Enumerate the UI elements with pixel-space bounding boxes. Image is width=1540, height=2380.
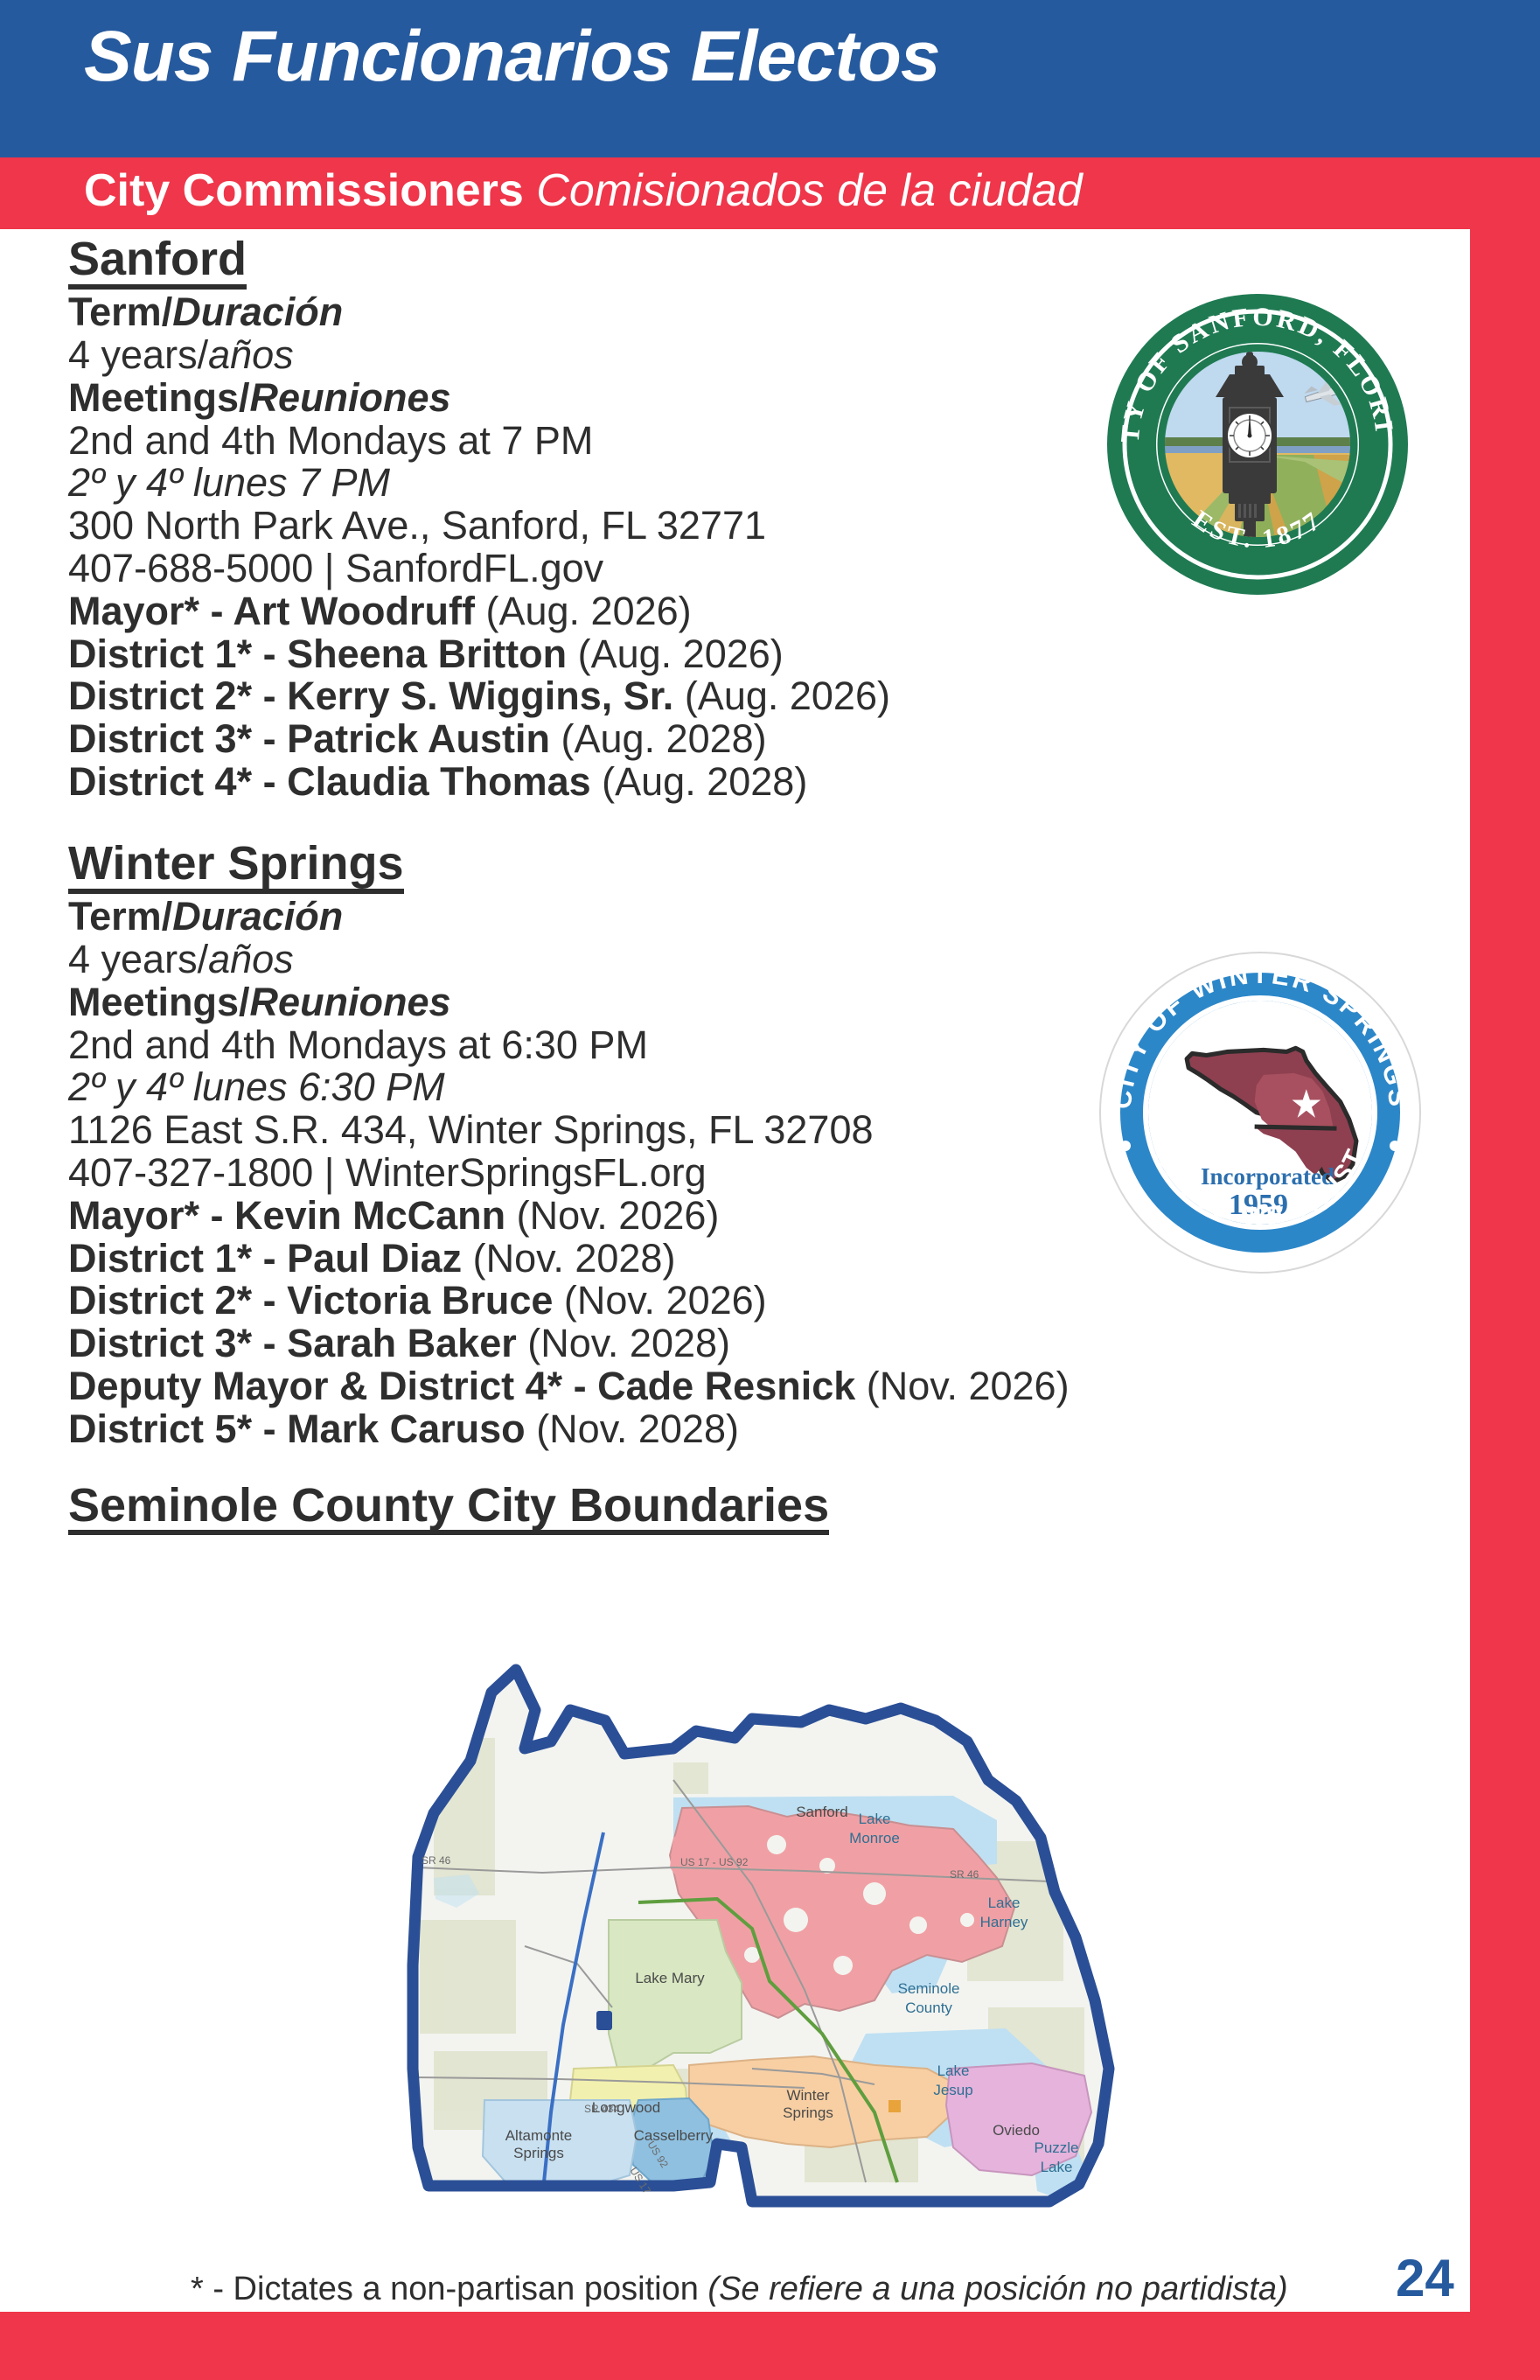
page-title: Sus Funcionarios Electos xyxy=(84,21,939,93)
map-label-lake-monroe: Monroe xyxy=(849,1830,900,1846)
svg-text:Winter: Winter xyxy=(786,2087,829,2104)
winter-springs-city-seal-icon: Incorporated 1959 CITY OF WINTER SPRINGS… xyxy=(1098,950,1423,1275)
map-road-us17-92: US 17 - US 92 xyxy=(680,1856,749,1868)
map-city-lake-mary xyxy=(609,1920,742,2069)
official-row: District 1* - Sheena Britton (Aug. 2026) xyxy=(68,633,1467,676)
map-label-winter-springs: Springs xyxy=(783,2104,833,2121)
website-winter-springs[interactable]: WinterSpringsFL.org xyxy=(345,1150,707,1195)
svg-text:Lake: Lake xyxy=(937,2062,970,2079)
svg-text:Puzzle: Puzzle xyxy=(1034,2139,1078,2156)
official-row: District 2* - Victoria Bruce (Nov. 2026) xyxy=(68,1280,1467,1323)
phone-winter-springs[interactable]: 407-327-1800 xyxy=(68,1150,313,1195)
seminole-county-map: Sanford Lake Mary Longwood Winter Spring… xyxy=(262,1658,1198,2252)
term-label-winter-springs: Term/Duración xyxy=(68,896,1467,939)
map-road-sr46-east: SR 46 xyxy=(950,1868,979,1881)
map-road-sr434: SR 434 xyxy=(584,2103,619,2115)
page-banner-blue: Sus Funcionarios Electos xyxy=(0,0,1540,157)
map-label-lake-jesup: Jesup xyxy=(933,2082,972,2098)
map-label-lake-mary: Lake Mary xyxy=(635,1970,705,1986)
page: Sus Funcionarios Electos City Commission… xyxy=(0,0,1540,2380)
contact-separator: | xyxy=(324,1150,335,1195)
svg-text:Lake: Lake xyxy=(988,1895,1021,1911)
phone-sanford[interactable]: 407-688-5000 xyxy=(68,546,313,590)
right-edge-rule xyxy=(1470,229,1540,2312)
official-row: District 4* - Claudia Thomas (Aug. 2028) xyxy=(68,761,1467,804)
section-heading-es: Comisionados de la ciudad xyxy=(536,165,1082,216)
footnote-es: (Se refiere a una posición no partidista… xyxy=(707,2271,1287,2307)
map-label-lake-harney: Harney xyxy=(980,1914,1028,1930)
svg-text:Lake: Lake xyxy=(859,1811,891,1827)
official-row: District 3* - Patrick Austin (Aug. 2028) xyxy=(68,718,1467,761)
footnote-en: * - Dictates a non-partisan position xyxy=(191,2271,707,2307)
map-label-altamonte-springs: Springs xyxy=(513,2145,564,2161)
contact-separator: | xyxy=(324,546,335,590)
website-sanford[interactable]: SanfordFL.gov xyxy=(345,546,603,590)
official-row: District 2* - Kerry S. Wiggins, Sr. (Aug… xyxy=(68,675,1467,718)
map-label-casselberry: Casselberry xyxy=(634,2127,714,2144)
bottom-edge-rule xyxy=(0,2312,1540,2380)
official-row: Deputy Mayor & District 4* - Cade Resnic… xyxy=(68,1365,1467,1408)
map-label-sanford: Sanford xyxy=(796,1804,848,1820)
svg-text:Altamonte: Altamonte xyxy=(505,2127,573,2144)
section-heading: City Commissioners Comisionados de la ci… xyxy=(84,166,1083,216)
section-heading-en: City Commissioners xyxy=(84,165,524,216)
map-road-sr46-west: SR 46 xyxy=(422,1854,451,1867)
section-spacer xyxy=(68,804,1467,839)
page-number: 24 xyxy=(1396,2248,1454,2308)
svg-text:Seminole: Seminole xyxy=(898,1980,960,1997)
map-label-oviedo: Oviedo xyxy=(993,2122,1040,2139)
map-label-puzzle-lake: Lake xyxy=(1041,2159,1073,2175)
city-name-winter-springs: Winter Springs xyxy=(68,839,404,894)
map-label-seminole-county: County xyxy=(905,2000,952,2016)
map-heading: Seminole County City Boundaries xyxy=(68,1481,829,1535)
sanford-city-seal-icon: CITY OF SANFORD, FLORIDA EST. 1877 xyxy=(1104,290,1411,598)
city-name-sanford: Sanford xyxy=(68,234,247,290)
official-row: District 3* - Sarah Baker (Nov. 2028) xyxy=(68,1323,1467,1365)
footnote: * - Dictates a non-partisan position (Se… xyxy=(191,2271,1288,2308)
page-banner-red: City Commissioners Comisionados de la ci… xyxy=(0,157,1540,229)
official-row: District 5* - Mark Caruso (Nov. 2028) xyxy=(68,1408,1467,1451)
